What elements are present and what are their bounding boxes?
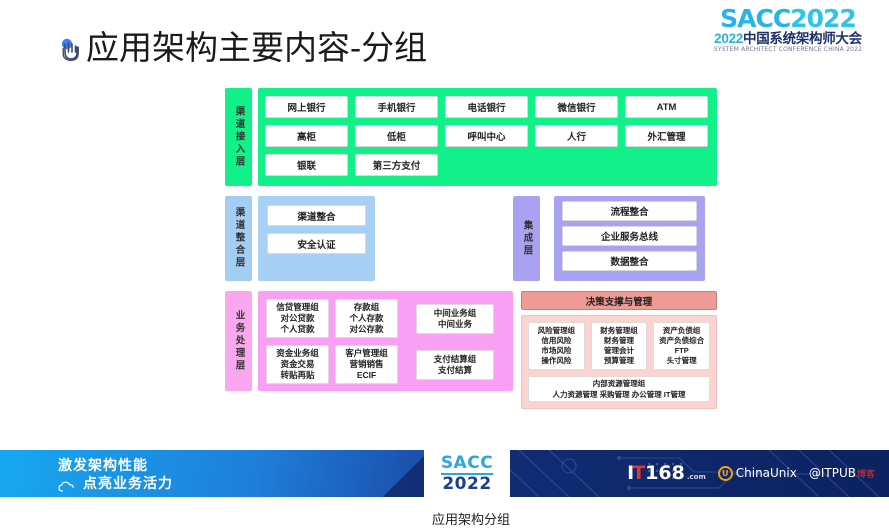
cloud-icon [58,479,76,490]
decision-group[interactable]: 资产负债组 资产负债综合 FTP 头寸管理 [653,322,710,370]
layer-label-channel-access: 渠道接入层 [225,88,252,186]
business-group-title: 中间业务组 [434,308,477,319]
decision-group-line: 市场风险 [541,346,571,356]
business-group-line: 转贴再贴 [280,370,314,381]
decision-group[interactable]: 风险管理组 信用风险 市场风险 操作风险 [528,322,585,370]
business-group-line: 中间业务 [438,319,472,330]
layer-label-business-processing: 业务处理层 [225,291,252,391]
itpub-mark: 博客 [857,467,875,480]
channel-row-1: 网上银行 手机银行 电话银行 微信银行 ATM [265,96,710,118]
logo-tagline: SYSTEM ARCHITECT CONFERENCE CHINA 2022 [699,46,877,54]
channel-cell[interactable]: 银联 [265,154,348,176]
decision-group-row: 风险管理组 信用风险 市场风险 操作风险 财务管理组 财务管理 管理会计 预算管… [528,322,710,370]
decision-group-line: 管理会计 [604,346,634,356]
decision-group-line: FTP [675,346,689,356]
business-group[interactable]: 信贷管理组 对公贷款 个人贷款 [266,299,329,338]
itpub-label: @ITPUB [809,466,856,480]
footer-sacc-badge: SACC 2022 [424,450,510,497]
decision-group-line: 操作风险 [541,356,571,366]
decision-group-line: 预算管理 [604,356,634,366]
channel-cell[interactable]: 第三方支付 [355,154,438,176]
layer-decision-support: 决策支撑与管理 风险管理组 信用风险 市场风险 操作风险 财务管理组 财务管理 … [521,291,717,409]
decision-group[interactable]: 财务管理组 财务管理 管理会计 预算管理 [591,322,648,370]
business-row-2: 资金业务组 资金交易 转贴再贴 客户管理组 营销销售 ECIF 支付结算组 支付… [266,345,505,384]
diagram-caption: 应用架构分组 [225,509,717,528]
decision-support-body: 风险管理组 信用风险 市场风险 操作风险 财务管理组 财务管理 管理会计 预算管… [521,315,717,409]
footer-slogan-line1: 激发架构性能 [58,457,173,475]
channel-integration-item[interactable]: 安全认证 [267,233,366,254]
business-group-line: 支付结算 [438,365,472,376]
layer-body-business-processing: 信贷管理组 对公贷款 个人贷款 存款组 个人存款 对公存款 中间业务组 中间业务… [258,291,513,391]
footer-slogan: 激发架构性能 点亮业务活力 [58,457,173,493]
business-group-line: 资金交易 [280,359,314,370]
channel-cell[interactable]: 人行 [535,125,618,147]
business-group-title: 支付结算组 [434,354,477,365]
logo-subtitle: 中国系统架构师大会 [743,31,862,46]
channel-row-2: 高柜 低柜 呼叫中心 人行 外汇管理 [265,125,710,147]
decision-group-line: 头寸管理 [667,356,697,366]
channel-row-3: 银联 第三方支付 [265,154,710,176]
channel-cell[interactable]: 呼叫中心 [445,125,528,147]
layer-channel-integration: 渠道整合层 渠道整合 安全认证 [225,196,375,281]
business-group[interactable]: 客户管理组 营销销售 ECIF [335,345,398,384]
logo-year: 2022 [790,4,856,33]
logo-brand: SACC [720,4,790,33]
itpub-logo[interactable]: @ITPUB 博客 [809,466,875,480]
business-group-title: 信贷管理组 [276,302,319,313]
footer-banner: 激发架构性能 点亮业务活力 SACC 2022 I T 168 .com U C… [0,450,889,497]
channel-integration-item[interactable]: 渠道整合 [267,205,366,226]
chinaunix-ring-icon: U [718,466,733,481]
channel-cell[interactable]: 电话银行 [445,96,528,118]
layer-label-integration: 集成层 [513,196,540,281]
integration-item[interactable]: 企业服务总线 [562,226,697,246]
decision-group-title: 财务管理组 [600,326,638,336]
business-group[interactable]: 存款组 个人存款 对公存款 [335,299,398,338]
footer-slogan-line2: 点亮业务活力 [83,475,173,493]
layer-body-channel-integration: 渠道整合 安全认证 [258,196,375,281]
decision-group-title: 资产负债组 [663,326,701,336]
channel-cell[interactable]: ATM [625,96,708,118]
business-group-line: ECIF [357,370,376,381]
internal-resource-line: 人力资源管理 采购管理 办公管理 IT管理 [553,389,686,400]
business-group-title: 存款组 [354,302,380,313]
business-group-title: 客户管理组 [345,348,388,359]
business-group-line: 个人贷款 [280,324,314,335]
architecture-diagram: 渠道接入层 网上银行 手机银行 电话银行 微信银行 ATM 高柜 低柜 呼叫中心… [225,88,717,418]
it168-number: 168 [645,462,685,484]
it168-t: T [632,462,645,484]
channel-cell[interactable]: 微信银行 [535,96,618,118]
business-group-title: 资金业务组 [276,348,319,359]
channel-cell[interactable]: 网上银行 [265,96,348,118]
page-title-text: 应用架构主要内容-分组 [86,30,427,66]
decision-support-header: 决策支撑与管理 [521,291,717,310]
footer-badge-year: 2022 [442,476,491,493]
layer-body-integration: 流程整合 企业服务总线 数据整合 [554,196,705,281]
layer-channel-access: 渠道接入层 网上银行 手机银行 电话银行 微信银行 ATM 高柜 低柜 呼叫中心… [225,88,717,186]
business-group-line: 个人存款 [349,313,383,324]
it168-suffix: .com [687,473,706,481]
decision-group-title: 风险管理组 [538,326,576,336]
chinaunix-logo[interactable]: U ChinaUnix [718,466,797,481]
business-group[interactable]: 资金业务组 资金交易 转贴再贴 [266,345,329,384]
decision-group-line: 财务管理 [604,336,634,346]
channel-cell[interactable]: 高柜 [265,125,348,147]
integration-item[interactable]: 流程整合 [562,201,697,221]
integration-item[interactable]: 数据整合 [562,251,697,271]
logo-subtitle-year: 2022 [714,31,743,46]
business-group[interactable]: 中间业务组 中间业务 [416,304,494,334]
internal-resource-title: 内部资源管理组 [593,378,646,389]
channel-cell[interactable]: 低柜 [355,125,438,147]
business-group[interactable]: 支付结算组 支付结算 [416,350,494,380]
internal-resource-group[interactable]: 内部资源管理组 人力资源管理 采购管理 办公管理 IT管理 [528,376,710,402]
business-group-line: 对公贷款 [280,313,314,324]
decision-group-line: 信用风险 [541,336,571,346]
layer-body-channel-access: 网上银行 手机银行 电话银行 微信银行 ATM 高柜 低柜 呼叫中心 人行 外汇… [258,88,717,186]
footer-brand-logos: I T 168 .com U ChinaUnix @ITPUB 博客 [627,462,875,484]
business-group-line: 营销销售 [349,359,383,370]
sacc-conference-logo: SACC2022 2022中国系统架构师大会 SYSTEM ARCHITECT … [699,6,877,56]
footer-badge-brand: SACC [441,455,493,472]
business-group-line: 对公存款 [349,324,383,335]
business-row-1: 信贷管理组 对公贷款 个人贷款 存款组 个人存款 对公存款 中间业务组 中间业务 [266,299,505,338]
layer-integration: 集成层 流程整合 企业服务总线 数据整合 [513,196,717,281]
decision-group-line: 资产负债综合 [659,336,704,346]
page-title: 应用架构主要内容-分组 [58,30,427,66]
pointing-hand-icon [58,34,84,62]
chinaunix-label: ChinaUnix [736,466,797,480]
layer-label-channel-integration: 渠道整合层 [225,196,252,281]
layer-business-processing: 业务处理层 信贷管理组 对公贷款 个人贷款 存款组 个人存款 对公存款 中间业务… [225,291,513,391]
channel-cell[interactable]: 外汇管理 [625,125,708,147]
channel-cell[interactable]: 手机银行 [355,96,438,118]
it168-logo[interactable]: I T 168 .com [627,462,706,484]
